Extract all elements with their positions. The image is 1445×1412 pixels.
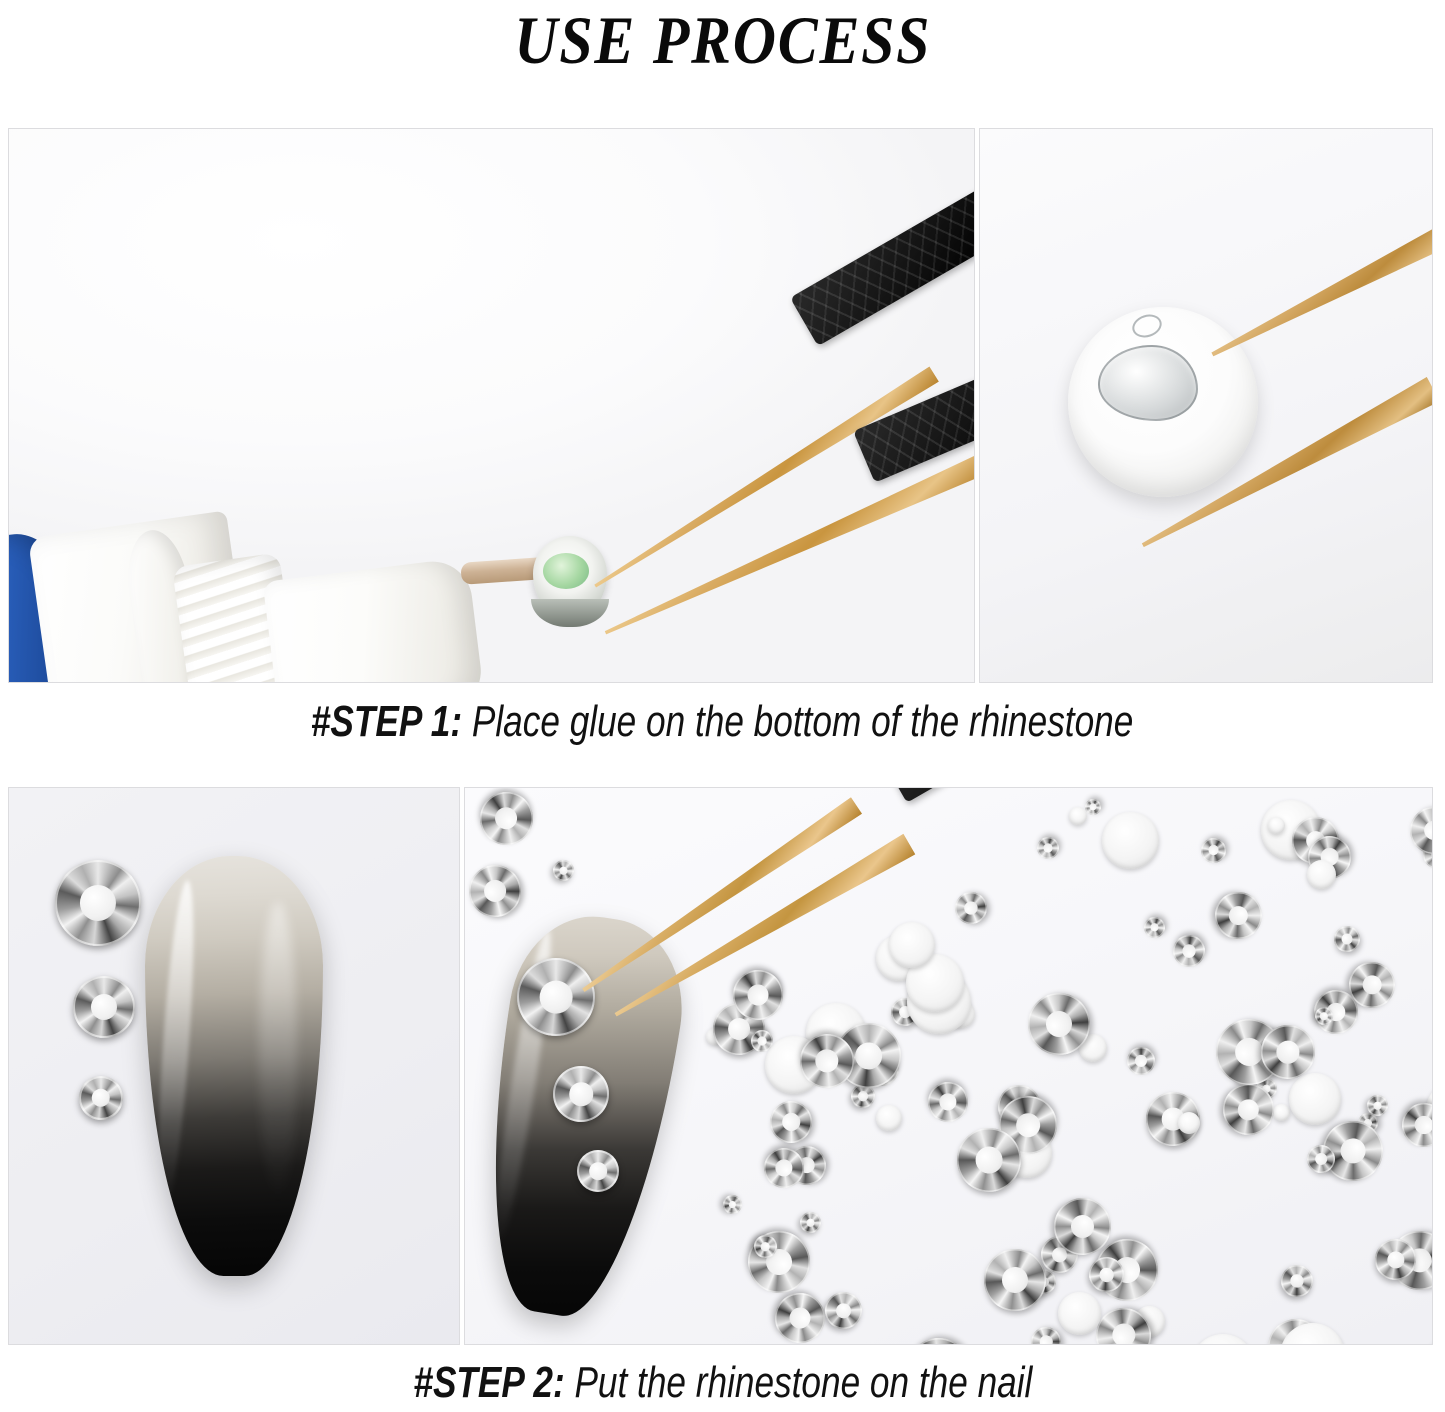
rhinestone-table-facet <box>833 1300 854 1321</box>
rhinestone-table-facet <box>786 1304 814 1332</box>
rhinestone-faceted <box>475 787 538 850</box>
rhinestone-table-facet <box>746 983 770 1007</box>
green-glue-drop <box>543 553 589 589</box>
nail-rhinestone-medium <box>553 1066 609 1122</box>
rhinestone-faceted <box>1330 922 1364 956</box>
rhinestone-faceted <box>762 1093 820 1151</box>
rhinestone-table-facet <box>1042 842 1054 854</box>
rhinestone-faceted <box>722 1194 743 1215</box>
rhinestone-table-facet <box>728 1200 736 1208</box>
rhinestone-flat-back <box>1069 807 1087 825</box>
rhinestone-table-facet <box>939 1093 958 1112</box>
tweezer-arm-upper <box>1206 206 1433 365</box>
rhinestone-table-facet <box>1236 1097 1261 1122</box>
ombre-nail <box>145 856 323 1276</box>
step-2-label: #STEP 2: <box>413 1358 564 1407</box>
clear-glue-blob <box>1098 345 1198 421</box>
rhinestone-flat-back <box>1058 1292 1101 1335</box>
rhinestone-table-facet <box>1111 1323 1136 1345</box>
rhinestone-faceted <box>1394 1095 1433 1155</box>
rhinestone-table-facet <box>761 1242 771 1252</box>
step-1-label: #STEP 1: <box>311 697 462 746</box>
rhinestone-faceted <box>1123 1043 1160 1080</box>
rhinestone-faceted <box>1196 833 1231 868</box>
rhinestone-faceted <box>1167 929 1210 972</box>
decorated-nail-photo <box>8 787 460 1345</box>
page-header: USE PROCESS <box>0 0 1445 80</box>
rhinestone-faceted <box>924 1078 971 1125</box>
step-1-photo-row <box>8 128 1433 683</box>
rhinestone-table-facet <box>856 1089 869 1102</box>
rhinestone-table-facet <box>1206 843 1220 857</box>
nail-gloss-secondary <box>259 902 297 1202</box>
rhinestone-table-facet <box>1422 819 1433 842</box>
rhinestone-faceted <box>464 857 529 925</box>
rhinestone-faceted <box>1413 1325 1433 1345</box>
rhinestone-backside-photo <box>979 128 1433 683</box>
rhinestone-table-facet <box>1134 1054 1149 1069</box>
rhinestone-table-facet <box>963 900 979 916</box>
rhinestone-table-facet <box>1180 942 1197 959</box>
rhinestone-table-facet <box>1412 1113 1433 1137</box>
nail-rhinestone-small <box>577 1150 619 1192</box>
rhinestone-table-facet <box>481 877 508 904</box>
rhinestone-base-shadow <box>531 599 609 627</box>
rhinestone-table-facet <box>1340 1138 1366 1164</box>
glue-bottle-tweezers-photo <box>8 128 975 683</box>
nail-gloss-highlight <box>152 879 201 1210</box>
rhinestone-faceted <box>1276 1260 1318 1302</box>
rhinestone-table-facet <box>727 1017 751 1041</box>
rhinestone-table-facet <box>1229 906 1248 925</box>
nail-rhinestone-large <box>55 860 141 946</box>
rhinestone-table-facet <box>1313 1151 1329 1167</box>
rhinestone-flat-back <box>1102 812 1159 869</box>
rhinestone-faceted <box>1349 962 1395 1008</box>
rhinestone-table-facet <box>1067 1211 1098 1242</box>
rhinestone-table-facet <box>756 1035 768 1047</box>
rhinestone-flat-back <box>1273 1104 1290 1121</box>
rhinestone-faceted <box>895 1326 981 1345</box>
nail-rhinestone-medium <box>73 976 135 1038</box>
rhinestone-table-facet <box>805 1217 817 1229</box>
rhinestone-faceted <box>952 889 991 928</box>
rhinestone-scatter-nail-photo <box>464 787 1433 1345</box>
rhinestone-faceted <box>1027 1323 1065 1345</box>
rhinestone-table-facet <box>775 1159 793 1177</box>
rhinestone-table-facet <box>815 1049 838 1072</box>
rhinestone-table-facet <box>1088 802 1097 811</box>
nail-rhinestone-large <box>517 958 595 1036</box>
page-title: USE PROCESS <box>514 6 931 74</box>
rhinestone-faceted <box>1215 892 1262 939</box>
rhinestone-table-facet <box>1149 922 1161 934</box>
rhinestone-flat-back <box>1307 860 1336 889</box>
rhinestone-faceted <box>1140 913 1170 943</box>
rhinestone-table-facet <box>851 1038 886 1073</box>
rhinestone-flat-back <box>1289 1073 1341 1125</box>
rhinestone-faceted <box>549 856 579 886</box>
tweezer-grip-upper <box>790 128 975 346</box>
rhinestone-table-facet <box>558 865 570 877</box>
rhinestone-faceted <box>796 1208 826 1238</box>
rhinestone-table-facet <box>494 806 519 831</box>
rhinestone-table-facet <box>1274 1038 1303 1067</box>
rhinestone-table-facet <box>779 1110 802 1133</box>
rhinestone-flat-back <box>1268 817 1285 834</box>
rhinestone-table-facet <box>1372 1100 1384 1112</box>
rhinestone-table-facet <box>973 1144 1005 1176</box>
rhinestone-table-facet <box>1320 1012 1329 1021</box>
rhinestone-faceted <box>818 1285 870 1337</box>
step-2-photo-row <box>8 787 1433 1345</box>
rhinestone-table-facet <box>999 1264 1031 1296</box>
step-2-text: Put the rhinestone on the nail <box>564 1358 1032 1407</box>
step-1-text: Place glue on the bottom of the rhinesto… <box>463 697 1134 746</box>
rhinestone-faceted <box>1033 833 1064 864</box>
nail-rhinestone-small <box>79 1076 123 1120</box>
glue-bottle-neck <box>263 557 486 683</box>
rhinestone-table-facet <box>1340 932 1353 945</box>
step-2-caption: #STEP 2: Put the rhinestone on the nail <box>0 1358 1445 1408</box>
rhinestone-flat-back <box>1178 1112 1200 1134</box>
rhinestone-table-facet <box>1097 1265 1116 1284</box>
rhinestone-faceted <box>1405 802 1433 859</box>
rhinestone-table-facet <box>1043 1008 1074 1039</box>
rhinestone-flat-back <box>876 1105 902 1131</box>
rhinestone-table-facet <box>1386 1250 1404 1268</box>
rhinestone-table-facet <box>1015 1112 1042 1139</box>
rhinestone-table-facet <box>1363 976 1381 994</box>
rhinestone-table-facet <box>1038 1334 1053 1345</box>
rhinestone-table-facet <box>1289 1273 1306 1290</box>
step-1-caption: #STEP 1: Place glue on the bottom of the… <box>0 697 1445 747</box>
rhinestone-flat-back <box>889 922 935 968</box>
rhinestone-flat-back <box>1191 1334 1255 1345</box>
